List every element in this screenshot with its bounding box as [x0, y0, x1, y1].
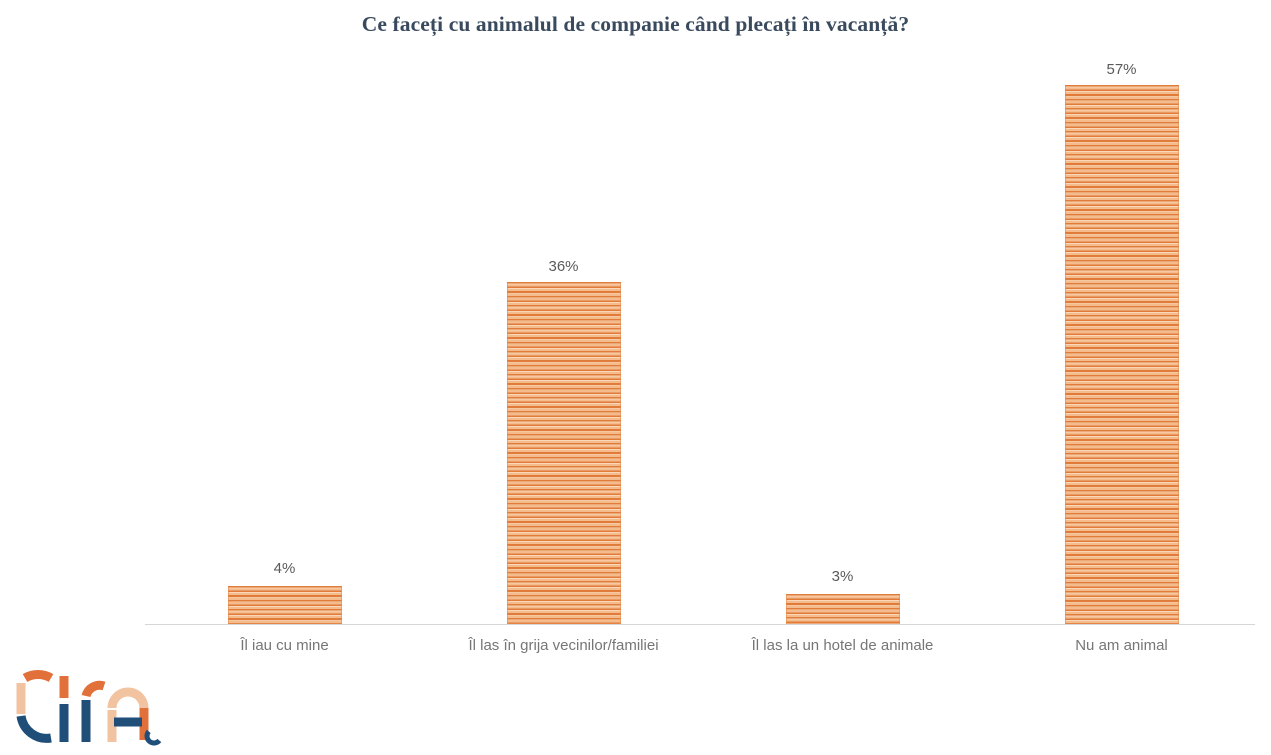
bar[interactable]	[228, 586, 342, 624]
plot-area: 4% Îl iau cu mine 36% Îl las în grija ve…	[0, 0, 1271, 628]
category-label: Îl iau cu mine	[240, 637, 328, 654]
bar-value-label: 4%	[274, 560, 296, 577]
bar-top-edge	[1065, 85, 1179, 86]
bar[interactable]	[786, 594, 900, 624]
bar-group: 36% Îl las în grija vecinilor/familiei	[424, 0, 703, 624]
category-label: Nu am animal	[1075, 637, 1168, 654]
cifra-logo-icon	[4, 666, 164, 750]
bar[interactable]	[1065, 85, 1179, 624]
category-label: Îl las la un hotel de animale	[752, 637, 934, 654]
bar-group: 57% Nu am animal	[982, 0, 1261, 624]
bar-value-label: 57%	[1106, 61, 1136, 78]
bar-top-edge	[507, 282, 621, 283]
cifra-logo	[4, 666, 164, 750]
bar-value-label: 36%	[548, 258, 578, 275]
bar-group: 3% Îl las la un hotel de animale	[703, 0, 982, 624]
bar-top-edge	[228, 586, 342, 587]
bar-top-edge	[786, 594, 900, 595]
bar-chart: Ce faceți cu animalul de companie când p…	[0, 0, 1271, 750]
bar-value-label: 3%	[832, 568, 854, 585]
bar[interactable]	[507, 282, 621, 624]
bar-group: 4% Îl iau cu mine	[145, 0, 424, 624]
category-label: Îl las în grija vecinilor/familiei	[468, 637, 658, 654]
x-axis-line	[145, 624, 1255, 625]
